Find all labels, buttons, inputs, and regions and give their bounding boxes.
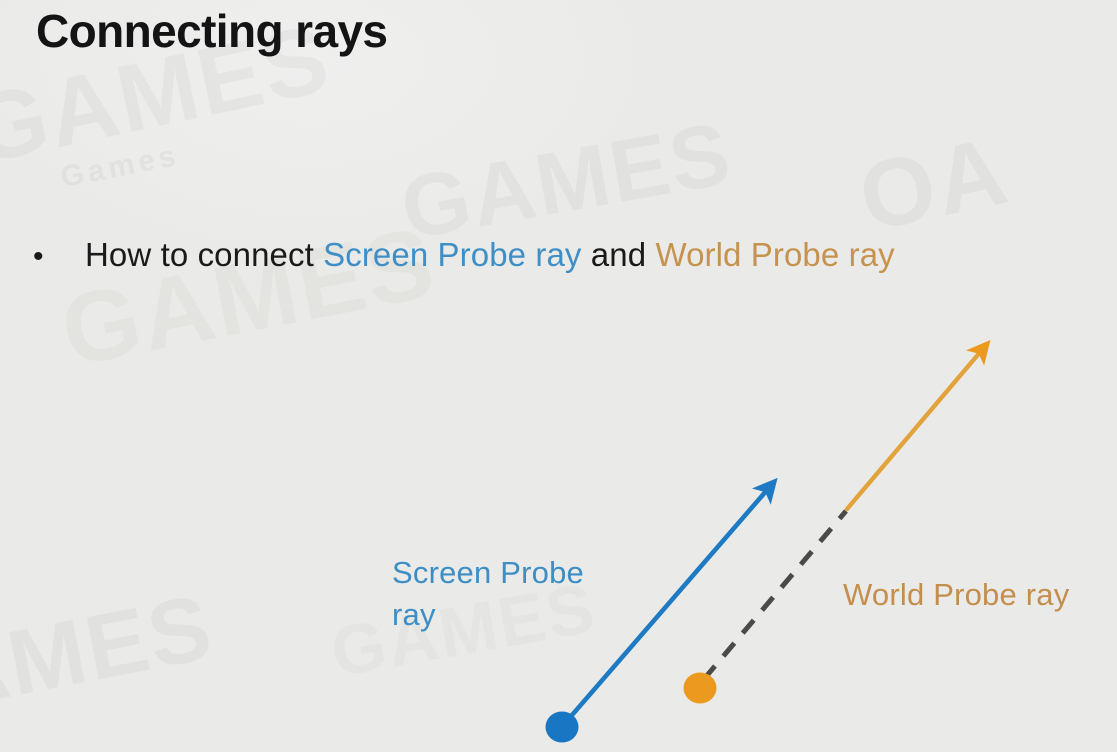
world-probe-origin-dot — [684, 673, 717, 704]
world-probe-ray-arrow — [847, 344, 987, 509]
ray-diagram — [0, 0, 1117, 752]
screen-probe-ray-label: Screen Probe ray — [392, 552, 642, 635]
screen-probe-origin-dot — [546, 712, 579, 743]
slide-canvas: GAMES GAMES OA GAMES AMES GAMES Games Co… — [0, 0, 1117, 752]
world-probe-ray-label: World Probe ray — [843, 574, 1069, 616]
